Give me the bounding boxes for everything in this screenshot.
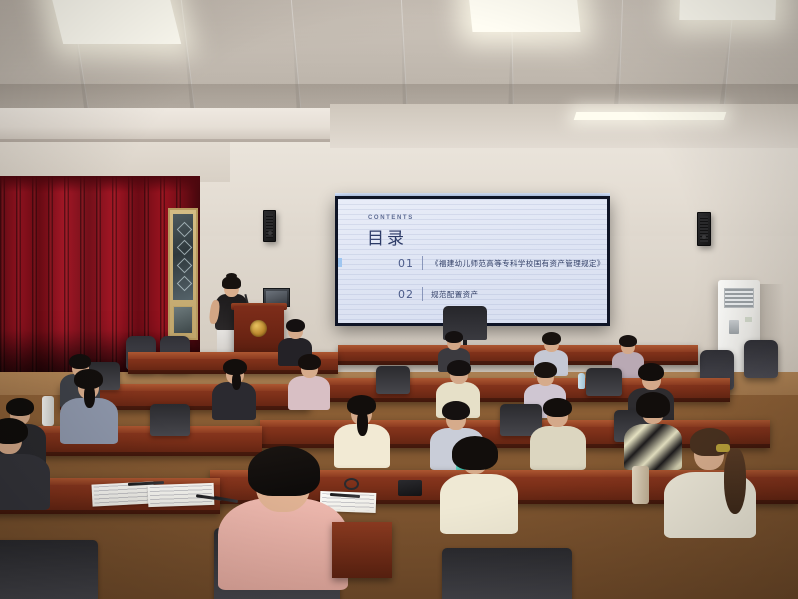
presenter-hair-bun (226, 273, 237, 279)
ac-control-panel (729, 320, 739, 334)
slide-item-divider (422, 287, 423, 301)
speaker-icon-left (263, 210, 276, 242)
chair-foreground-right (442, 548, 572, 599)
slide-item-text: 《福建幼儿师范高等专科学校国有资产管理规定》 (431, 258, 605, 269)
desk-speaker-box (398, 480, 422, 496)
hair-clip (716, 444, 730, 452)
slide-title: 目录 (367, 224, 407, 249)
curtain-rail-shadow (0, 176, 200, 192)
slide-eyebrow: CONTENTS (368, 215, 414, 221)
lecture-room-photo: CONTENTS 目录 01 《福建幼儿师范高等专科学校国有资产管理规定》 02… (0, 0, 798, 599)
recessed-ceiling-right (330, 104, 798, 148)
chair-r2-3 (586, 368, 622, 396)
ceiling-light-3 (679, 0, 776, 20)
ac-badge (745, 317, 752, 322)
slide-item-1: 01 《福建幼儿师范高等专科学校国有资产管理规定》 (398, 256, 605, 270)
desk-row-1 (338, 345, 698, 365)
desk-row-5-stub (332, 522, 392, 578)
ceiling-light-strip (574, 112, 727, 120)
ceiling-light-2 (467, 0, 580, 32)
slide-item-number: 01 (398, 257, 414, 270)
window-glass (173, 214, 193, 300)
projection-screen: CONTENTS 目录 01 《福建幼儿师范高等专科学校国有资产管理规定》 02… (338, 199, 607, 323)
desk-mic-ring (344, 478, 359, 490)
school-emblem-icon (250, 320, 267, 337)
slide-item-text: 规范配置资产 (431, 289, 478, 300)
ac-vent-louvers (724, 288, 754, 308)
tumbler-beige (632, 466, 649, 504)
screen-side-marker (338, 258, 342, 267)
water-bottle-1 (578, 373, 585, 389)
slide-item-2: 02 规范配置资产 (398, 287, 478, 301)
chair-r3-1 (150, 404, 190, 436)
window-lower-pane (173, 306, 193, 334)
speaker-icon-right (697, 212, 711, 246)
stage-chair-3 (744, 340, 778, 378)
document-1 (91, 481, 154, 506)
chair-r2-2 (376, 366, 410, 394)
water-bottle-2 (42, 396, 54, 426)
chair-foreground-left (0, 540, 98, 599)
ceiling-light-1 (49, 0, 181, 44)
slide-item-number: 02 (398, 288, 414, 301)
slide-item-divider (422, 256, 423, 270)
